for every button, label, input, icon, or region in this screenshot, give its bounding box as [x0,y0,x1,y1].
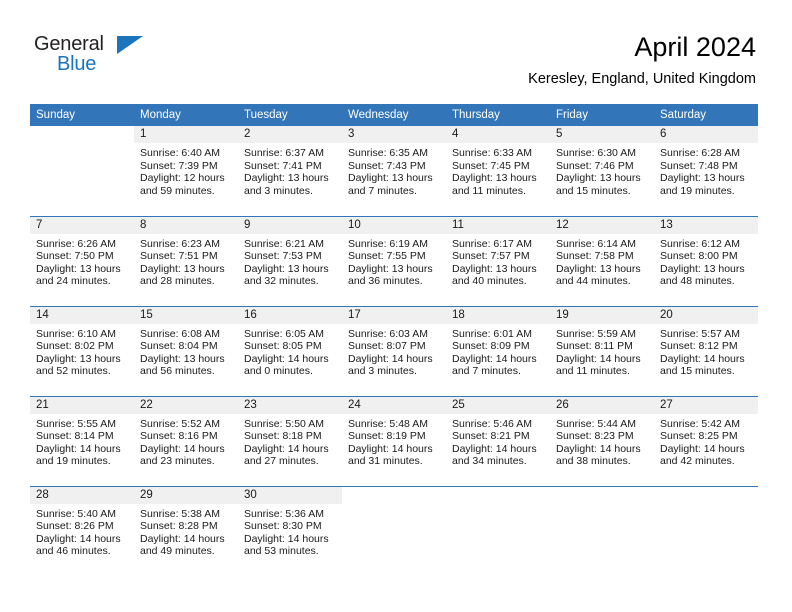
day-detail-daylight-2: and 48 minutes. [660,275,753,288]
day-number: 29 [134,487,238,504]
day-detail-daylight-1: Daylight: 13 hours [660,263,753,276]
day-detail-daylight-2: and 11 minutes. [556,365,649,378]
day-details: Sunrise: 5:40 AMSunset: 8:26 PMDaylight:… [30,504,134,558]
day-details: Sunrise: 6:14 AMSunset: 7:58 PMDaylight:… [550,234,654,288]
day-detail-daylight-2: and 24 minutes. [36,275,129,288]
weekday-header-saturday: Saturday [654,104,758,126]
day-detail-daylight-1: Daylight: 13 hours [36,263,129,276]
day-detail-daylight-2: and 19 minutes. [36,455,129,468]
day-detail-daylight-2: and 34 minutes. [452,455,545,468]
day-details: Sunrise: 6:03 AMSunset: 8:07 PMDaylight:… [342,324,446,378]
day-detail-sunrise: Sunrise: 5:46 AM [452,418,545,431]
day-detail-sunrise: Sunrise: 6:05 AM [244,328,337,341]
calendar-header-row: Sunday Monday Tuesday Wednesday Thursday… [30,104,758,126]
day-details: Sunrise: 5:50 AMSunset: 8:18 PMDaylight:… [238,414,342,468]
day-detail-sunset: Sunset: 7:46 PM [556,160,649,173]
day-detail-sunrise: Sunrise: 5:38 AM [140,508,233,521]
day-detail-sunrise: Sunrise: 5:57 AM [660,328,753,341]
page-title: April 2024 [528,32,756,63]
day-detail-sunrise: Sunrise: 6:21 AM [244,238,337,251]
page-header: General Blue April 2024 Keresley, Englan… [0,0,792,100]
weekday-header-thursday: Thursday [446,104,550,126]
day-number [446,487,550,504]
day-detail-daylight-1: Daylight: 14 hours [452,443,545,456]
weekday-header-wednesday: Wednesday [342,104,446,126]
day-cell[interactable]: 20Sunrise: 5:57 AMSunset: 8:12 PMDayligh… [654,306,758,396]
day-detail-sunset: Sunset: 8:19 PM [348,430,441,443]
day-number: 4 [446,126,550,143]
day-cell[interactable]: 22Sunrise: 5:52 AMSunset: 8:16 PMDayligh… [134,396,238,486]
day-cell-empty [342,486,446,576]
day-cell[interactable]: 5Sunrise: 6:30 AMSunset: 7:46 PMDaylight… [550,126,654,216]
day-detail-daylight-1: Daylight: 12 hours [140,172,233,185]
day-cell[interactable]: 8Sunrise: 6:23 AMSunset: 7:51 PMDaylight… [134,216,238,306]
day-detail-daylight-2: and 40 minutes. [452,275,545,288]
day-number: 30 [238,487,342,504]
day-number: 11 [446,217,550,234]
day-detail-sunrise: Sunrise: 5:48 AM [348,418,441,431]
day-detail-sunset: Sunset: 7:39 PM [140,160,233,173]
day-details: Sunrise: 6:05 AMSunset: 8:05 PMDaylight:… [238,324,342,378]
day-detail-daylight-2: and 7 minutes. [452,365,545,378]
day-number: 26 [550,397,654,414]
day-detail-daylight-2: and 7 minutes. [348,185,441,198]
day-detail-sunset: Sunset: 8:28 PM [140,520,233,533]
day-detail-sunrise: Sunrise: 6:12 AM [660,238,753,251]
day-detail-sunset: Sunset: 8:16 PM [140,430,233,443]
day-detail-daylight-1: Daylight: 14 hours [244,533,337,546]
calendar-page: General Blue April 2024 Keresley, Englan… [0,0,792,612]
day-number: 27 [654,397,758,414]
day-detail-daylight-1: Daylight: 14 hours [140,533,233,546]
day-detail-daylight-1: Daylight: 14 hours [348,443,441,456]
day-detail-daylight-1: Daylight: 14 hours [452,353,545,366]
day-details: Sunrise: 6:30 AMSunset: 7:46 PMDaylight:… [550,143,654,197]
day-detail-daylight-1: Daylight: 13 hours [660,172,753,185]
calendar-body: 1Sunrise: 6:40 AMSunset: 7:39 PMDaylight… [30,126,758,576]
day-detail-sunrise: Sunrise: 5:52 AM [140,418,233,431]
day-number: 5 [550,126,654,143]
day-number: 25 [446,397,550,414]
day-detail-sunrise: Sunrise: 6:26 AM [36,238,129,251]
day-detail-daylight-2: and 59 minutes. [140,185,233,198]
day-detail-sunrise: Sunrise: 6:28 AM [660,147,753,160]
day-cell-empty [446,486,550,576]
day-cell[interactable]: 17Sunrise: 6:03 AMSunset: 8:07 PMDayligh… [342,306,446,396]
day-cell[interactable]: 25Sunrise: 5:46 AMSunset: 8:21 PMDayligh… [446,396,550,486]
day-number [550,487,654,504]
day-number: 21 [30,397,134,414]
day-detail-sunset: Sunset: 8:00 PM [660,250,753,263]
day-detail-sunrise: Sunrise: 5:40 AM [36,508,129,521]
day-number: 7 [30,217,134,234]
calendar-week-row: 28Sunrise: 5:40 AMSunset: 8:26 PMDayligh… [30,486,758,576]
day-detail-daylight-1: Daylight: 13 hours [452,172,545,185]
day-cell[interactable]: 14Sunrise: 6:10 AMSunset: 8:02 PMDayligh… [30,306,134,396]
logo-text-blue: Blue [57,53,96,75]
sunrise-sunset-calendar: Sunday Monday Tuesday Wednesday Thursday… [30,104,758,576]
day-number: 1 [134,126,238,143]
day-cell[interactable]: 15Sunrise: 6:08 AMSunset: 8:04 PMDayligh… [134,306,238,396]
day-detail-sunrise: Sunrise: 6:40 AM [140,147,233,160]
calendar-week-row: 21Sunrise: 5:55 AMSunset: 8:14 PMDayligh… [30,396,758,486]
day-detail-daylight-2: and 15 minutes. [556,185,649,198]
day-detail-sunrise: Sunrise: 6:01 AM [452,328,545,341]
day-detail-daylight-1: Daylight: 14 hours [660,353,753,366]
day-detail-sunset: Sunset: 7:58 PM [556,250,649,263]
day-details: Sunrise: 6:35 AMSunset: 7:43 PMDaylight:… [342,143,446,197]
day-cell[interactable]: 29Sunrise: 5:38 AMSunset: 8:28 PMDayligh… [134,486,238,576]
day-number: 20 [654,307,758,324]
calendar-week-row: 1Sunrise: 6:40 AMSunset: 7:39 PMDaylight… [30,126,758,216]
day-cell[interactable]: 10Sunrise: 6:19 AMSunset: 7:55 PMDayligh… [342,216,446,306]
day-detail-sunrise: Sunrise: 6:08 AM [140,328,233,341]
day-cell[interactable]: 27Sunrise: 5:42 AMSunset: 8:25 PMDayligh… [654,396,758,486]
day-detail-daylight-1: Daylight: 13 hours [140,263,233,276]
day-number: 8 [134,217,238,234]
day-detail-daylight-2: and 27 minutes. [244,455,337,468]
day-detail-daylight-2: and 56 minutes. [140,365,233,378]
day-detail-daylight-2: and 19 minutes. [660,185,753,198]
day-detail-sunset: Sunset: 7:53 PM [244,250,337,263]
day-number: 18 [446,307,550,324]
day-detail-sunrise: Sunrise: 6:03 AM [348,328,441,341]
day-detail-daylight-1: Daylight: 14 hours [244,443,337,456]
day-details: Sunrise: 6:19 AMSunset: 7:55 PMDaylight:… [342,234,446,288]
day-detail-sunset: Sunset: 7:50 PM [36,250,129,263]
day-detail-daylight-1: Daylight: 14 hours [140,443,233,456]
day-details: Sunrise: 6:26 AMSunset: 7:50 PMDaylight:… [30,234,134,288]
day-details: Sunrise: 6:17 AMSunset: 7:57 PMDaylight:… [446,234,550,288]
day-details: Sunrise: 5:38 AMSunset: 8:28 PMDaylight:… [134,504,238,558]
day-detail-daylight-2: and 28 minutes. [140,275,233,288]
day-detail-sunrise: Sunrise: 6:33 AM [452,147,545,160]
day-detail-daylight-1: Daylight: 14 hours [36,533,129,546]
day-cell[interactable]: 21Sunrise: 5:55 AMSunset: 8:14 PMDayligh… [30,396,134,486]
day-detail-sunset: Sunset: 8:04 PM [140,340,233,353]
day-detail-daylight-1: Daylight: 13 hours [452,263,545,276]
day-detail-sunset: Sunset: 8:07 PM [348,340,441,353]
day-details: Sunrise: 5:46 AMSunset: 8:21 PMDaylight:… [446,414,550,468]
day-cell[interactable]: 23Sunrise: 5:50 AMSunset: 8:18 PMDayligh… [238,396,342,486]
day-detail-daylight-1: Daylight: 14 hours [36,443,129,456]
weekday-header-friday: Friday [550,104,654,126]
day-detail-daylight-2: and 32 minutes. [244,275,337,288]
day-details: Sunrise: 6:28 AMSunset: 7:48 PMDaylight:… [654,143,758,197]
day-detail-sunrise: Sunrise: 6:35 AM [348,147,441,160]
logo-text-general: General [34,33,104,55]
day-details: Sunrise: 6:21 AMSunset: 7:53 PMDaylight:… [238,234,342,288]
day-detail-daylight-2: and 31 minutes. [348,455,441,468]
generalblue-logo: General Blue [34,33,164,79]
day-detail-sunset: Sunset: 7:41 PM [244,160,337,173]
day-detail-daylight-2: and 0 minutes. [244,365,337,378]
day-cell[interactable]: 30Sunrise: 5:36 AMSunset: 8:30 PMDayligh… [238,486,342,576]
day-number: 3 [342,126,446,143]
day-detail-daylight-1: Daylight: 13 hours [348,172,441,185]
day-number: 6 [654,126,758,143]
day-detail-sunset: Sunset: 8:12 PM [660,340,753,353]
day-detail-sunrise: Sunrise: 5:55 AM [36,418,129,431]
weekday-header-sunday: Sunday [30,104,134,126]
day-detail-daylight-2: and 11 minutes. [452,185,545,198]
day-cell[interactable]: 16Sunrise: 6:05 AMSunset: 8:05 PMDayligh… [238,306,342,396]
day-number: 23 [238,397,342,414]
day-number: 14 [30,307,134,324]
day-detail-sunset: Sunset: 7:55 PM [348,250,441,263]
day-cell[interactable]: 12Sunrise: 6:14 AMSunset: 7:58 PMDayligh… [550,216,654,306]
day-number [30,126,134,143]
day-detail-sunset: Sunset: 8:11 PM [556,340,649,353]
day-cell-empty [654,486,758,576]
day-detail-daylight-2: and 53 minutes. [244,545,337,558]
day-detail-daylight-2: and 52 minutes. [36,365,129,378]
day-number: 19 [550,307,654,324]
day-detail-sunrise: Sunrise: 6:14 AM [556,238,649,251]
day-detail-daylight-1: Daylight: 13 hours [36,353,129,366]
day-detail-daylight-1: Daylight: 14 hours [244,353,337,366]
day-detail-sunset: Sunset: 7:51 PM [140,250,233,263]
day-cell[interactable]: 24Sunrise: 5:48 AMSunset: 8:19 PMDayligh… [342,396,446,486]
day-detail-sunset: Sunset: 8:09 PM [452,340,545,353]
day-detail-sunrise: Sunrise: 6:30 AM [556,147,649,160]
day-cell[interactable]: 19Sunrise: 5:59 AMSunset: 8:11 PMDayligh… [550,306,654,396]
day-details: Sunrise: 6:12 AMSunset: 8:00 PMDaylight:… [654,234,758,288]
day-number: 10 [342,217,446,234]
day-detail-sunset: Sunset: 8:26 PM [36,520,129,533]
day-detail-daylight-2: and 3 minutes. [348,365,441,378]
day-number: 15 [134,307,238,324]
day-number: 16 [238,307,342,324]
day-detail-daylight-1: Daylight: 13 hours [556,172,649,185]
weekday-header-tuesday: Tuesday [238,104,342,126]
day-detail-daylight-2: and 49 minutes. [140,545,233,558]
day-detail-sunrise: Sunrise: 5:59 AM [556,328,649,341]
day-cell[interactable]: 13Sunrise: 6:12 AMSunset: 8:00 PMDayligh… [654,216,758,306]
day-detail-sunset: Sunset: 8:02 PM [36,340,129,353]
day-detail-sunrise: Sunrise: 5:42 AM [660,418,753,431]
day-detail-daylight-1: Daylight: 13 hours [244,172,337,185]
day-detail-sunset: Sunset: 7:43 PM [348,160,441,173]
day-details: Sunrise: 5:48 AMSunset: 8:19 PMDaylight:… [342,414,446,468]
day-details: Sunrise: 6:01 AMSunset: 8:09 PMDaylight:… [446,324,550,378]
day-detail-daylight-2: and 23 minutes. [140,455,233,468]
day-cell[interactable]: 28Sunrise: 5:40 AMSunset: 8:26 PMDayligh… [30,486,134,576]
day-detail-daylight-1: Daylight: 14 hours [348,353,441,366]
day-detail-daylight-2: and 15 minutes. [660,365,753,378]
logo-triangle-icon [117,36,143,54]
day-detail-sunset: Sunset: 7:45 PM [452,160,545,173]
day-cell[interactable]: 6Sunrise: 6:28 AMSunset: 7:48 PMDaylight… [654,126,758,216]
calendar-week-row: 7Sunrise: 6:26 AMSunset: 7:50 PMDaylight… [30,216,758,306]
day-detail-sunset: Sunset: 8:23 PM [556,430,649,443]
day-detail-sunrise: Sunrise: 6:17 AM [452,238,545,251]
title-block: April 2024 Keresley, England, United Kin… [528,32,756,88]
day-cell[interactable]: 11Sunrise: 6:17 AMSunset: 7:57 PMDayligh… [446,216,550,306]
day-cell[interactable]: 4Sunrise: 6:33 AMSunset: 7:45 PMDaylight… [446,126,550,216]
day-details: Sunrise: 6:10 AMSunset: 8:02 PMDaylight:… [30,324,134,378]
day-detail-sunrise: Sunrise: 6:10 AM [36,328,129,341]
day-details: Sunrise: 5:42 AMSunset: 8:25 PMDaylight:… [654,414,758,468]
day-cell[interactable]: 3Sunrise: 6:35 AMSunset: 7:43 PMDaylight… [342,126,446,216]
day-number: 22 [134,397,238,414]
day-number: 13 [654,217,758,234]
day-detail-sunset: Sunset: 8:21 PM [452,430,545,443]
day-detail-daylight-2: and 46 minutes. [36,545,129,558]
day-number: 24 [342,397,446,414]
day-number [654,487,758,504]
day-detail-sunrise: Sunrise: 6:37 AM [244,147,337,160]
day-detail-sunset: Sunset: 8:30 PM [244,520,337,533]
day-cell[interactable]: 2Sunrise: 6:37 AMSunset: 7:41 PMDaylight… [238,126,342,216]
day-detail-daylight-1: Daylight: 13 hours [244,263,337,276]
day-detail-daylight-1: Daylight: 14 hours [556,353,649,366]
day-details: Sunrise: 5:44 AMSunset: 8:23 PMDaylight:… [550,414,654,468]
day-detail-daylight-1: Daylight: 14 hours [556,443,649,456]
day-details: Sunrise: 5:57 AMSunset: 8:12 PMDaylight:… [654,324,758,378]
day-detail-daylight-1: Daylight: 13 hours [348,263,441,276]
day-cell[interactable]: 26Sunrise: 5:44 AMSunset: 8:23 PMDayligh… [550,396,654,486]
weekday-header-monday: Monday [134,104,238,126]
day-number: 12 [550,217,654,234]
day-details: Sunrise: 6:08 AMSunset: 8:04 PMDaylight:… [134,324,238,378]
day-detail-daylight-1: Daylight: 14 hours [660,443,753,456]
day-details: Sunrise: 5:55 AMSunset: 8:14 PMDaylight:… [30,414,134,468]
day-cell-empty [30,126,134,216]
day-detail-sunrise: Sunrise: 5:50 AM [244,418,337,431]
day-number: 17 [342,307,446,324]
day-number: 2 [238,126,342,143]
day-cell[interactable]: 18Sunrise: 6:01 AMSunset: 8:09 PMDayligh… [446,306,550,396]
day-details: Sunrise: 6:40 AMSunset: 7:39 PMDaylight:… [134,143,238,197]
day-detail-sunset: Sunset: 7:48 PM [660,160,753,173]
day-detail-sunset: Sunset: 7:57 PM [452,250,545,263]
day-cell[interactable]: 9Sunrise: 6:21 AMSunset: 7:53 PMDaylight… [238,216,342,306]
page-subtitle: Keresley, England, United Kingdom [528,71,756,88]
day-detail-sunrise: Sunrise: 6:23 AM [140,238,233,251]
day-detail-sunrise: Sunrise: 6:19 AM [348,238,441,251]
day-details: Sunrise: 5:52 AMSunset: 8:16 PMDaylight:… [134,414,238,468]
day-detail-daylight-1: Daylight: 13 hours [556,263,649,276]
day-number: 9 [238,217,342,234]
day-detail-sunset: Sunset: 8:05 PM [244,340,337,353]
day-detail-sunset: Sunset: 8:25 PM [660,430,753,443]
day-details: Sunrise: 6:37 AMSunset: 7:41 PMDaylight:… [238,143,342,197]
day-details: Sunrise: 6:33 AMSunset: 7:45 PMDaylight:… [446,143,550,197]
day-cell[interactable]: 1Sunrise: 6:40 AMSunset: 7:39 PMDaylight… [134,126,238,216]
day-number [342,487,446,504]
day-detail-daylight-2: and 38 minutes. [556,455,649,468]
day-detail-daylight-2: and 36 minutes. [348,275,441,288]
day-detail-daylight-2: and 42 minutes. [660,455,753,468]
day-detail-daylight-2: and 3 minutes. [244,185,337,198]
day-detail-sunrise: Sunrise: 5:44 AM [556,418,649,431]
calendar-week-row: 14Sunrise: 6:10 AMSunset: 8:02 PMDayligh… [30,306,758,396]
day-detail-sunrise: Sunrise: 5:36 AM [244,508,337,521]
day-cell[interactable]: 7Sunrise: 6:26 AMSunset: 7:50 PMDaylight… [30,216,134,306]
day-cell-empty [550,486,654,576]
day-detail-sunset: Sunset: 8:14 PM [36,430,129,443]
day-details: Sunrise: 5:59 AMSunset: 8:11 PMDaylight:… [550,324,654,378]
day-detail-daylight-1: Daylight: 13 hours [140,353,233,366]
day-detail-sunset: Sunset: 8:18 PM [244,430,337,443]
day-number: 28 [30,487,134,504]
day-details: Sunrise: 6:23 AMSunset: 7:51 PMDaylight:… [134,234,238,288]
day-details: Sunrise: 5:36 AMSunset: 8:30 PMDaylight:… [238,504,342,558]
day-detail-daylight-2: and 44 minutes. [556,275,649,288]
